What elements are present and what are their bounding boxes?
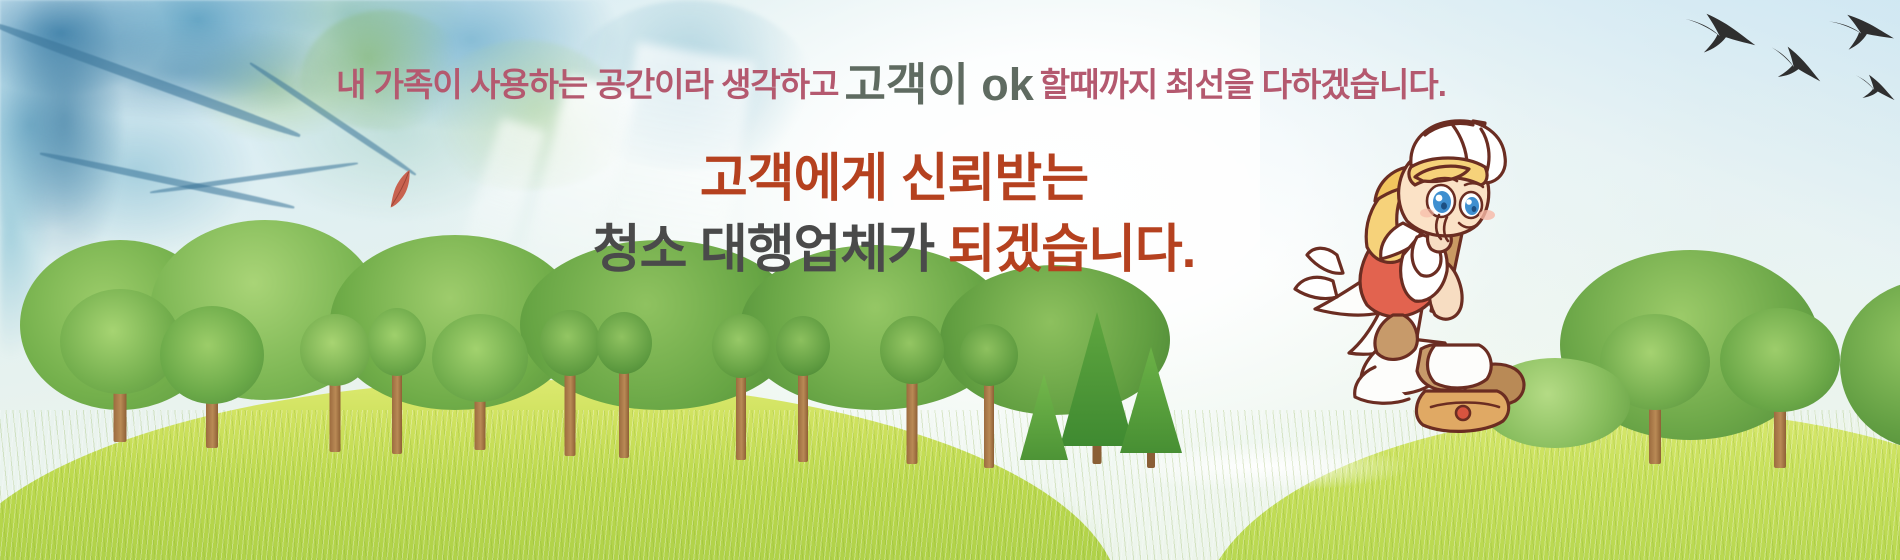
conifer-tree — [1020, 374, 1068, 470]
tree-with-trunk — [776, 312, 830, 462]
tagline-emphasis: 고객이 ok — [839, 59, 1040, 110]
tree — [1840, 280, 1900, 450]
tagline: 내 가족이 사용하는 공간이라 생각하고고객이 ok할때까지 최선을 다하겠습니… — [0, 64, 1900, 106]
tree-with-trunk — [712, 310, 770, 460]
tree-with-trunk — [880, 314, 944, 464]
tree-with-trunk — [540, 306, 600, 456]
tree-with-trunk — [300, 312, 370, 452]
promo-banner: 내 가족이 사용하는 공간이라 생각하고고객이 ok할때까지 최선을 다하겠습니… — [0, 0, 1900, 560]
tagline-part1: 내 가족이 사용하는 공간이라 생각하고 — [336, 66, 838, 103]
headline-line-2: 청소 대행업체가 되겠습니다. — [0, 217, 1900, 283]
tree-with-trunk — [960, 322, 1018, 468]
headline-line-1: 고객에게 신뢰받는 — [0, 146, 1900, 212]
headline-line-2-red: 되겠습니다. — [948, 221, 1196, 279]
tree-with-trunk — [596, 306, 652, 458]
tree-with-trunk — [368, 304, 426, 454]
tagline-part2: 할때까지 최선을 다하겠습니다. — [1040, 66, 1446, 103]
cleaning-maid-mascot — [1275, 105, 1575, 435]
tree-with-trunk — [160, 308, 264, 448]
tree-with-trunk — [1720, 308, 1840, 468]
conifer-tree — [1120, 348, 1182, 468]
headline-line-2-gray: 청소 대행업체가 — [593, 221, 934, 279]
tree-with-trunk — [432, 310, 528, 450]
